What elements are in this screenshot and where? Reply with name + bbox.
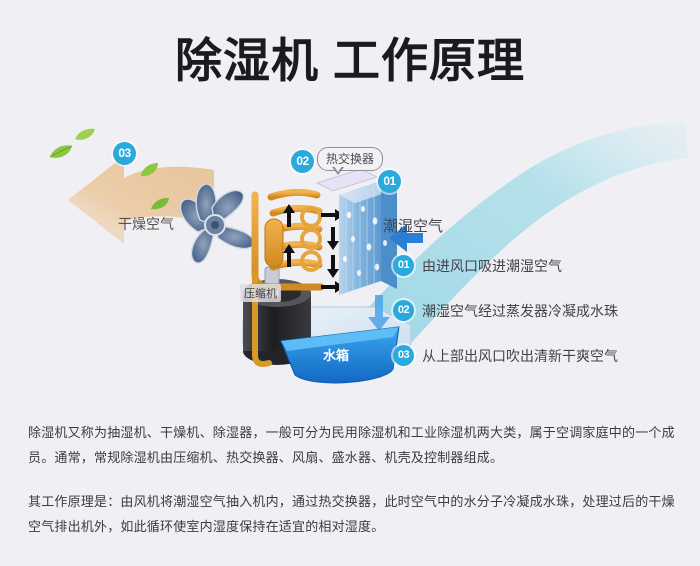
steps-legend: 01 由进风口吸进潮湿空气 02 潮湿空气经过蒸发器冷凝成水珠 03 从上部出风… xyxy=(393,255,693,366)
legend-item: 02 潮湿空气经过蒸发器冷凝成水珠 xyxy=(393,300,693,321)
legend-item: 01 由进风口吸进潮湿空气 xyxy=(393,255,693,276)
label-dry-air: 干燥空气 xyxy=(118,214,174,234)
page-title: 除湿机工作原理 xyxy=(0,32,700,90)
label-compressor: 压缩机 xyxy=(240,284,281,302)
leaf-icon xyxy=(74,128,96,142)
diagram-badge-03: 03 xyxy=(113,142,136,165)
leaf-icon xyxy=(48,144,74,160)
leaf-icon xyxy=(140,162,160,178)
diagram-badge-01: 01 xyxy=(378,170,401,193)
legend-badge-02: 02 xyxy=(393,300,414,321)
page-title-part2: 工作原理 xyxy=(333,34,525,87)
heat-exchanger-callout: 热交换器 xyxy=(317,147,383,171)
legend-badge-01: 01 xyxy=(393,255,414,276)
label-wet-air: 潮湿空气 xyxy=(383,215,443,236)
diagram-badge-02: 02 xyxy=(291,150,314,173)
page-title-part1: 除湿机 xyxy=(175,34,319,87)
callout-pointer-icon xyxy=(332,167,344,175)
description-paragraph-1: 除湿机又称为抽湿机、干燥机、除湿器，一般可分为民用除湿机和工业除湿机两大类，属于… xyxy=(28,420,678,470)
legend-text-02: 潮湿空气经过蒸发器冷凝成水珠 xyxy=(422,301,618,321)
description-paragraph-2: 其工作原理是：由风机将潮湿空气抽入机内，通过热交换器，此时空气中的水分子冷凝成水… xyxy=(28,489,678,539)
legend-item: 03 从上部出风口吹出清新干爽空气 xyxy=(393,345,693,366)
page-root: 除湿机工作原理 xyxy=(0,0,700,566)
legend-text-03: 从上部出风口吹出清新干爽空气 xyxy=(422,346,618,366)
legend-badge-03: 03 xyxy=(393,345,414,366)
description-block: 除湿机又称为抽湿机、干燥机、除湿器，一般可分为民用除湿机和工业除湿机两大类，属于… xyxy=(28,420,678,539)
label-water-tank: 水箱 xyxy=(323,345,349,364)
legend-text-01: 由进风口吸进潮湿空气 xyxy=(422,256,562,276)
